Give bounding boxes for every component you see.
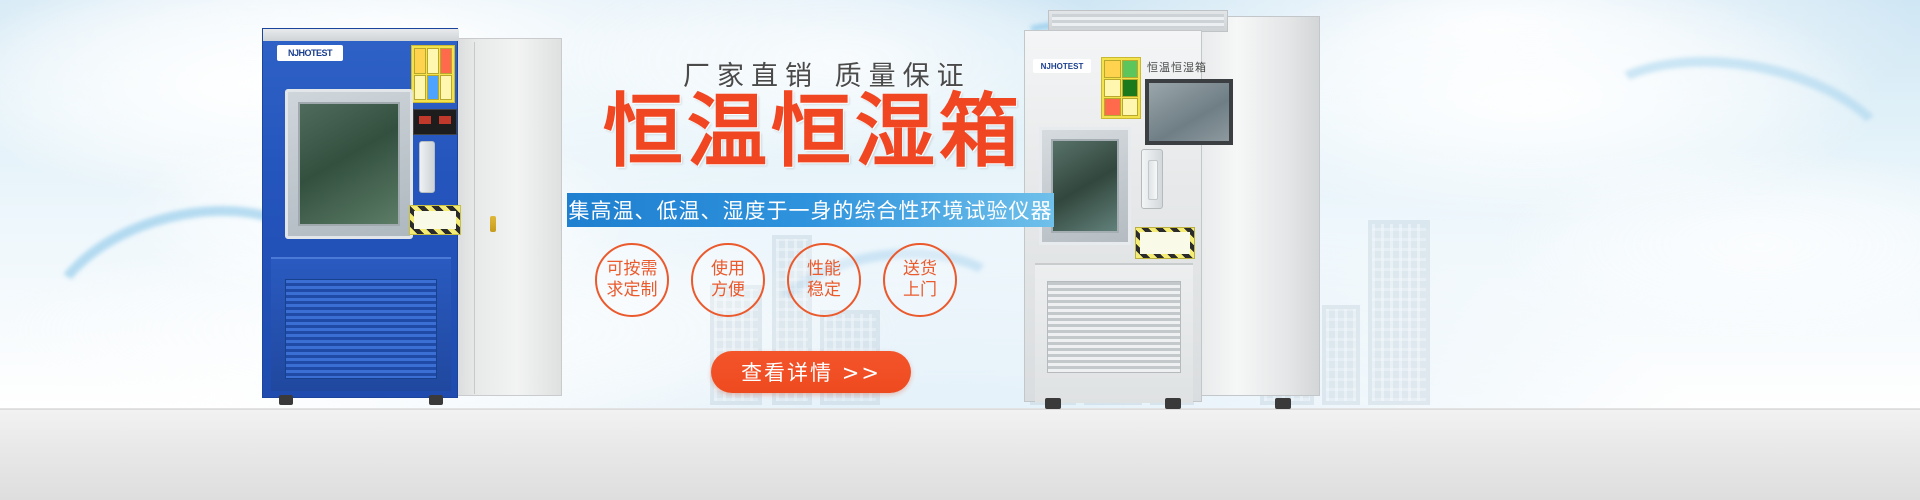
feature-badge-line1: 使用 xyxy=(711,259,745,280)
warning-label-left xyxy=(411,45,455,103)
left-chamber-lower-unit xyxy=(271,257,451,391)
feature-badge-easy-use[interactable]: 使用 方便 xyxy=(691,243,765,317)
feature-badge-line2: 稳定 xyxy=(807,280,841,301)
promo-banner: NJHOTEST NJHOTES xyxy=(0,0,1920,500)
left-chamber-knob xyxy=(490,216,496,232)
left-chamber-vent-grille xyxy=(285,279,437,379)
left-chamber-side-panel xyxy=(452,38,562,396)
product-image-right-chamber: NJHOTEST 恒温恒湿箱 xyxy=(1024,10,1324,405)
view-details-button[interactable]: 查看详情 >> xyxy=(711,351,911,393)
left-chamber-seam xyxy=(474,42,475,394)
feature-badge-line1: 送货 xyxy=(903,259,937,280)
left-chamber-foot xyxy=(279,395,293,405)
right-chamber-foot xyxy=(1165,398,1181,409)
right-chamber-vent-grille xyxy=(1047,281,1181,373)
banner-subtitle-bar: 集高温、低温、湿度于一身的综合性环境试验仪器 xyxy=(567,193,1054,227)
view-details-label: 查看详情 >> xyxy=(741,357,881,387)
right-chamber-brand-text: 恒温恒湿箱 xyxy=(1147,59,1229,74)
left-chamber-foot xyxy=(429,395,443,405)
feature-badge-delivery[interactable]: 送货 上门 xyxy=(883,243,957,317)
feature-badge-custom[interactable]: 可按需 求定制 xyxy=(595,243,669,317)
left-chamber-logo: NJHOTEST xyxy=(277,45,343,61)
left-chamber-top-strip xyxy=(263,29,459,41)
feature-badge-stable[interactable]: 性能 稳定 xyxy=(787,243,861,317)
left-chamber-handle xyxy=(419,141,435,193)
left-chamber-window xyxy=(298,102,400,226)
product-image-left-chamber: NJHOTEST xyxy=(262,28,562,403)
left-chamber-control-panel xyxy=(413,109,457,135)
feature-badge-line1: 可按需 xyxy=(607,259,658,280)
left-chamber-door xyxy=(285,89,413,239)
left-chamber-body: NJHOTEST xyxy=(262,28,458,398)
right-chamber-top-vents xyxy=(1048,10,1228,32)
right-chamber-touchscreen xyxy=(1145,79,1233,145)
hazard-plate-left xyxy=(409,205,461,235)
warning-label-right xyxy=(1101,57,1141,119)
feature-badge-line2: 方便 xyxy=(711,280,745,301)
feature-badge-list: 可按需 求定制 使用 方便 性能 稳定 送货 上门 xyxy=(595,243,1055,323)
hazard-plate-right xyxy=(1135,227,1195,259)
banner-subtitle-text: 集高温、低温、湿度于一身的综合性环境试验仪器 xyxy=(569,195,1053,225)
right-chamber-handle xyxy=(1141,149,1163,209)
banner-copy-block: 厂家直销 质量保证 恒温恒湿箱 集高温、低温、湿度于一身的综合性环境试验仪器 可… xyxy=(565,46,1065,466)
feature-badge-line2: 求定制 xyxy=(607,280,658,301)
feature-badge-line2: 上门 xyxy=(903,280,937,301)
feature-badge-line1: 性能 xyxy=(807,259,841,280)
banner-headline: 恒温恒湿箱 xyxy=(603,92,1023,172)
right-chamber-foot xyxy=(1275,398,1291,409)
